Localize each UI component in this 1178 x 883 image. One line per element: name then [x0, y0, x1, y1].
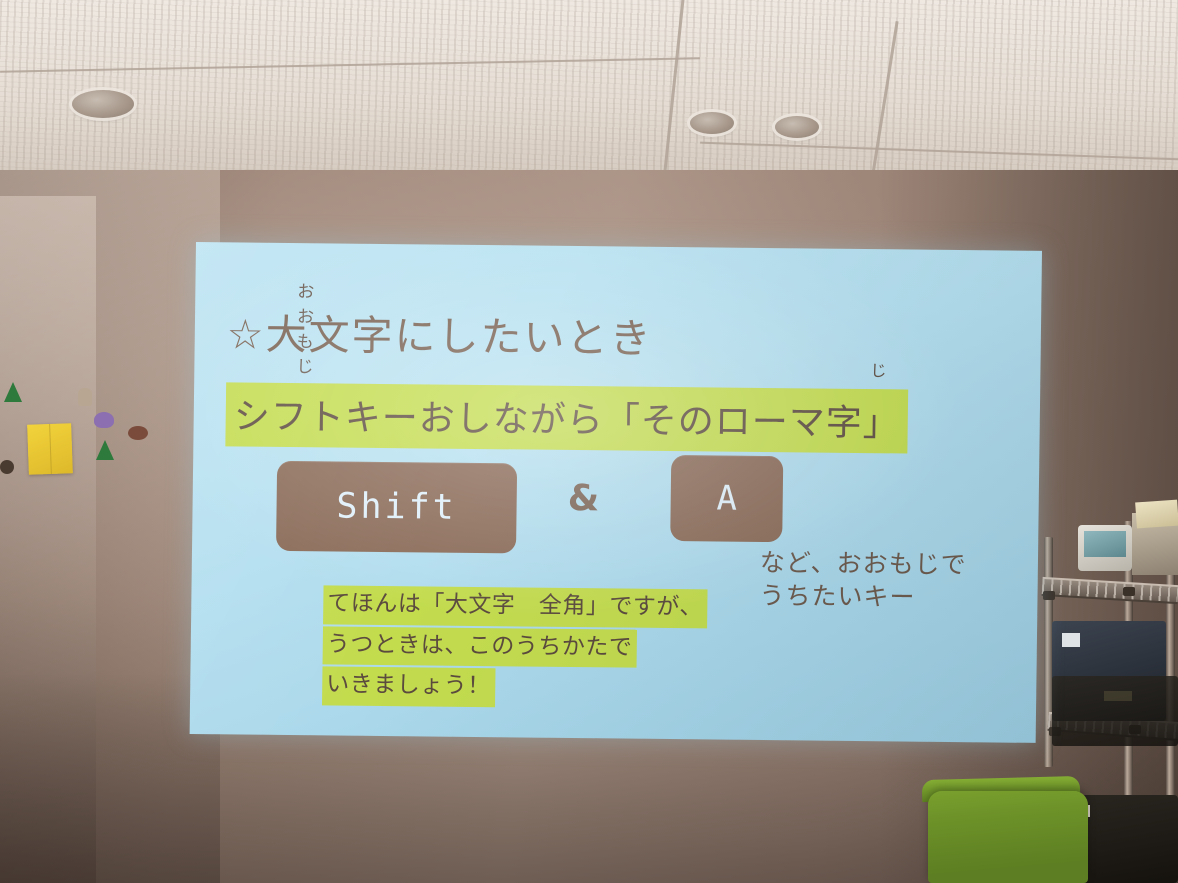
ceiling-light-icon	[775, 116, 819, 138]
rack-collar	[1123, 587, 1135, 596]
projector-screen: おおもじ ☆大文字にしたいとき じ シフトキーおしながら「そのローマ字」 Shi…	[190, 242, 1042, 743]
note-right-line2: うちたいキー	[759, 579, 966, 614]
note-bottom-line3: いきましょう！	[322, 666, 495, 706]
rack-shelf	[1042, 577, 1178, 604]
paper-sheet-on-shelf	[1135, 500, 1178, 529]
key-a: A	[670, 455, 783, 542]
key-separator-ampersand: &	[567, 478, 599, 519]
ceiling-light-icon	[72, 90, 134, 118]
note-right: など、おおもじで うちたいキー	[759, 546, 967, 614]
note-right-line1: など、おおもじで	[760, 546, 967, 581]
christmas-tree-cutout-icon	[4, 382, 22, 402]
note-bottom: てほんは「大文字 全角」ですが、 うつときは、このうちかたで いきましょう！	[322, 585, 707, 711]
rack-collar	[1043, 591, 1055, 600]
decoration-dot-icon	[128, 426, 148, 440]
storage-bin	[1052, 676, 1178, 746]
decoration-dot-icon	[0, 460, 14, 474]
yellow-card-decoration	[27, 423, 73, 475]
decoration-dot-icon	[94, 412, 114, 428]
ceiling-light-icon	[690, 112, 734, 134]
room-photo-scene: おおもじ ☆大文字にしたいとき じ シフトキーおしながら「そのローマ字」 Shi…	[0, 0, 1178, 883]
green-chair	[928, 791, 1088, 883]
note-bottom-line1: てほんは「大文字 全角」ですが、	[323, 585, 707, 628]
headline-ruby: じ	[870, 357, 886, 381]
label-tag-icon	[1062, 633, 1080, 647]
key-shift: Shift	[276, 461, 517, 554]
slide-canvas: おおもじ ☆大文字にしたいとき じ シフトキーおしながら「そのローマ字」 Shi…	[190, 242, 1042, 743]
headline-highlighted: シフトキーおしながら「そのローマ字」	[225, 382, 908, 453]
christmas-tree-cutout-icon	[96, 440, 114, 460]
decoration-dot-icon	[78, 388, 92, 406]
note-bottom-line2: うつときは、このうちかたで	[323, 626, 637, 668]
page-title: ☆大文字にしたいとき	[226, 300, 653, 364]
monitor-screen	[1084, 531, 1126, 557]
